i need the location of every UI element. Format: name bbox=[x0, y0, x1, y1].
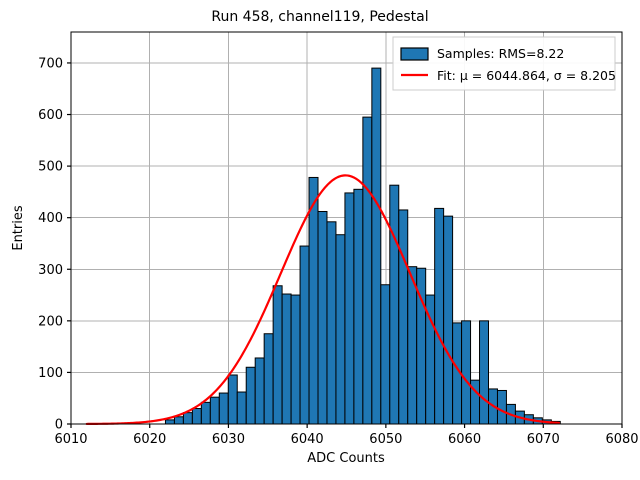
chart-figure: Run 458, channel119, Pedestal 6010602060… bbox=[0, 0, 640, 480]
x-axis-ticks: 60106020603060406050606060706080 bbox=[54, 424, 638, 447]
histogram-bar bbox=[381, 285, 390, 424]
histogram-bar bbox=[255, 358, 264, 424]
histogram-bar bbox=[309, 177, 318, 424]
histogram-bar bbox=[336, 235, 345, 424]
y-tick-label: 500 bbox=[38, 160, 63, 175]
x-tick-label: 6060 bbox=[448, 432, 481, 447]
x-tick-label: 6010 bbox=[54, 432, 87, 447]
histogram-bar bbox=[480, 321, 489, 424]
y-tick-label: 300 bbox=[38, 263, 63, 278]
histogram-bar bbox=[228, 375, 237, 424]
histogram-bar bbox=[300, 246, 309, 424]
legend-label-samples: Samples: RMS=8.22 bbox=[437, 46, 564, 61]
x-tick-label: 6050 bbox=[369, 432, 402, 447]
histogram-bar bbox=[183, 413, 192, 424]
y-tick-label: 700 bbox=[38, 56, 63, 71]
histogram-bar bbox=[282, 294, 291, 424]
histogram-bar bbox=[399, 210, 408, 424]
y-tick-label: 100 bbox=[38, 366, 63, 381]
histogram-bar bbox=[273, 286, 282, 424]
histogram-bar bbox=[354, 189, 363, 424]
y-tick-label: 0 bbox=[55, 418, 63, 433]
x-tick-label: 6020 bbox=[133, 432, 166, 447]
legend-swatch-samples bbox=[401, 48, 428, 60]
histogram-bar bbox=[174, 417, 183, 424]
x-tick-label: 6080 bbox=[605, 432, 638, 447]
histogram-bar bbox=[291, 295, 300, 424]
histogram-bar bbox=[444, 216, 453, 424]
histogram-plot: 60106020603060406050606060706080 0100200… bbox=[0, 0, 640, 480]
histogram-bar bbox=[390, 185, 399, 424]
histogram-bar bbox=[264, 334, 273, 424]
y-axis-label: Entries bbox=[11, 205, 26, 251]
legend-entry-samples[interactable]: Samples: RMS=8.22 bbox=[401, 46, 564, 61]
y-tick-label: 400 bbox=[38, 211, 63, 226]
histogram-bar bbox=[372, 68, 381, 424]
histogram-bar bbox=[318, 211, 327, 424]
histogram-bar bbox=[237, 392, 246, 424]
histogram-bar bbox=[219, 393, 228, 424]
y-tick-label: 600 bbox=[38, 108, 63, 123]
histogram-bar bbox=[246, 367, 255, 424]
histogram-bar bbox=[192, 409, 201, 424]
legend-label-fit: Fit: μ = 6044.864, σ = 8.205 bbox=[437, 68, 616, 83]
histogram-bar bbox=[435, 208, 444, 424]
y-axis-ticks: 0100200300400500600700 bbox=[38, 56, 71, 432]
histogram-bar bbox=[462, 321, 471, 424]
x-tick-label: 6030 bbox=[212, 432, 245, 447]
histogram-bar bbox=[345, 193, 354, 424]
histogram-bar bbox=[201, 402, 210, 424]
histogram-bar bbox=[327, 222, 336, 424]
histogram-bar bbox=[210, 397, 219, 424]
chart-legend[interactable]: Samples: RMS=8.22 Fit: μ = 6044.864, σ =… bbox=[393, 37, 616, 90]
x-axis-label: ADC Counts bbox=[307, 451, 385, 466]
x-tick-label: 6070 bbox=[527, 432, 560, 447]
y-tick-label: 200 bbox=[38, 314, 63, 329]
histogram-bar bbox=[497, 390, 506, 424]
x-tick-label: 6040 bbox=[291, 432, 324, 447]
histogram-bar bbox=[363, 117, 372, 424]
histogram-bar bbox=[408, 267, 417, 424]
